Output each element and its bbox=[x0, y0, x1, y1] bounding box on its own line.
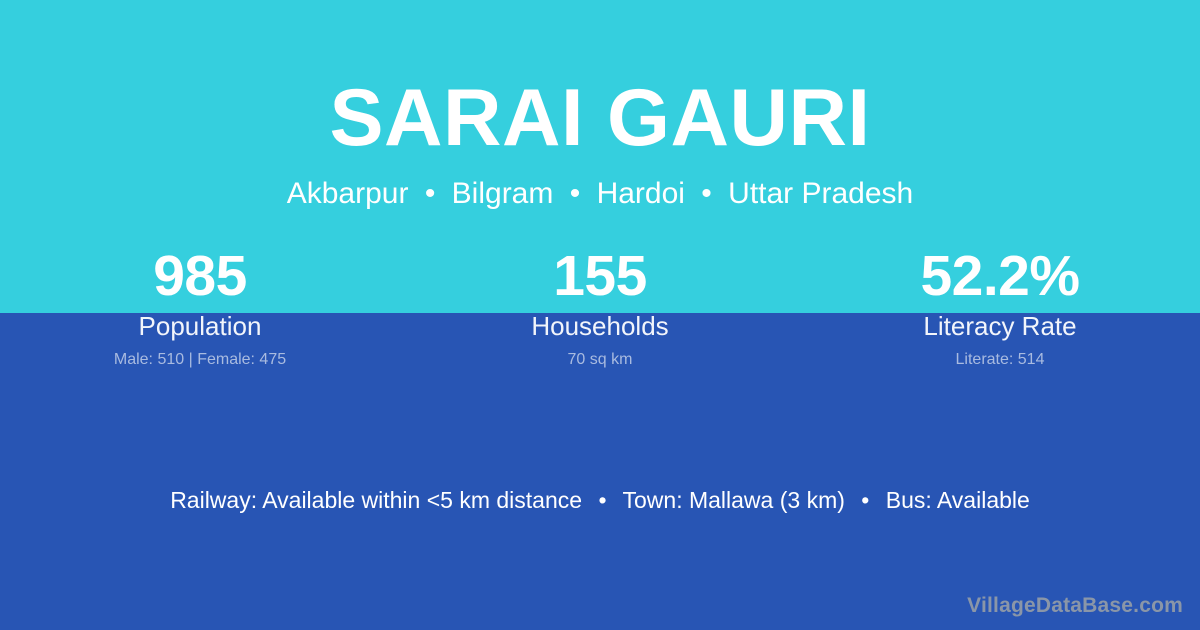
amenity-bus: Bus: Available bbox=[886, 487, 1030, 513]
stat-population: 985 Population Male: 510 | Female: 475 bbox=[0, 247, 400, 369]
amenity-railway: Railway: Available within <5 km distance bbox=[170, 487, 582, 513]
stat-label: Literacy Rate bbox=[800, 312, 1200, 340]
village-location-breadcrumb: Akbarpur • Bilgram • Hardoi • Uttar Prad… bbox=[0, 159, 1200, 209]
amenities-line: Railway: Available within <5 km distance… bbox=[0, 486, 1200, 514]
stats-row: 985 Population Male: 510 | Female: 475 1… bbox=[0, 247, 1200, 369]
stat-sublabel: Male: 510 | Female: 475 bbox=[0, 351, 400, 369]
location-separator-dot: • bbox=[417, 177, 444, 210]
village-title: SARAI GAURI bbox=[0, 0, 1200, 159]
stat-label: Population bbox=[0, 312, 400, 340]
location-part-district: Hardoi bbox=[597, 177, 685, 210]
stat-value: 52.2% bbox=[800, 247, 1200, 305]
location-separator-dot: • bbox=[693, 177, 720, 210]
location-separator-dot: • bbox=[562, 177, 589, 210]
stat-label: Households bbox=[400, 312, 800, 340]
stat-households: 155 Households 70 sq km bbox=[400, 247, 800, 369]
amenity-separator-dot: • bbox=[851, 487, 879, 513]
card-content: SARAI GAURI Akbarpur • Bilgram • Hardoi … bbox=[0, 0, 1200, 630]
card-header: SARAI GAURI Akbarpur • Bilgram • Hardoi … bbox=[0, 0, 1200, 209]
amenity-nearest-town: Town: Mallawa (3 km) bbox=[623, 487, 845, 513]
village-info-card: SARAI GAURI Akbarpur • Bilgram • Hardoi … bbox=[0, 0, 1200, 630]
stat-literacy-rate: 52.2% Literacy Rate Literate: 514 bbox=[800, 247, 1200, 369]
stat-value: 985 bbox=[0, 247, 400, 305]
stat-value: 155 bbox=[400, 247, 800, 305]
location-part-block: Akbarpur bbox=[287, 177, 409, 210]
stat-sublabel: Literate: 514 bbox=[800, 351, 1200, 369]
amenity-separator-dot: • bbox=[588, 487, 616, 513]
location-part-state: Uttar Pradesh bbox=[728, 177, 913, 210]
site-brand-watermark: VillageDataBase.com bbox=[967, 594, 1183, 618]
location-part-tehsil: Bilgram bbox=[452, 177, 554, 210]
card-footer: VillageDataBase.com bbox=[967, 594, 1183, 618]
stat-sublabel: 70 sq km bbox=[400, 351, 800, 369]
